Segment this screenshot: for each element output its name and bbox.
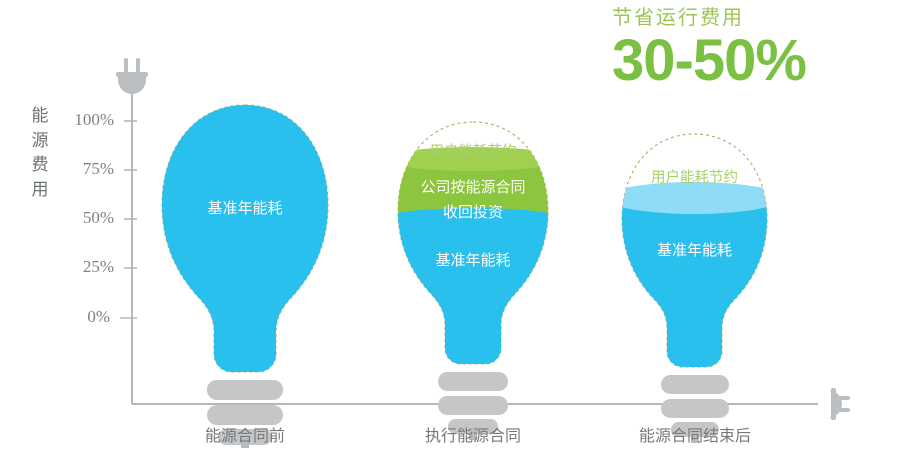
x-category-label-3: 能源合同结束后: [595, 422, 795, 446]
y-axis-title: 能源费用: [28, 104, 52, 203]
fill-surface-green: [388, 147, 558, 171]
y-tick-label-0: 0%: [48, 307, 110, 327]
y-tick-label-25: 25%: [52, 257, 114, 277]
y-tick-label-50: 50%: [52, 208, 114, 228]
bulb-before-contract[interactable]: 基准年能耗: [150, 100, 340, 400]
infographic-canvas: 节省运行费用 30-50% 能源费用 100% 75%: [0, 0, 900, 473]
base-bar-2: [438, 396, 508, 415]
base-bar-2: [661, 399, 729, 418]
plug-icon-horizontal: [828, 388, 850, 420]
headline-block: 节省运行费用 30-50%: [612, 6, 872, 90]
headline-value: 30-50%: [612, 33, 872, 90]
bulb-fill-baseline: [150, 100, 340, 400]
y-tick-label-100: 100%: [52, 110, 114, 130]
bulb-fill-baseline: [612, 198, 777, 400]
y-tick-label-75: 75%: [52, 159, 114, 179]
base-bar-1: [661, 375, 729, 394]
fill-surface-blue: [612, 182, 777, 214]
x-category-label-2: 执行能源合同: [373, 422, 573, 446]
fill-boundary-green-blue: [388, 208, 558, 230]
bulb-after-contract[interactable]: 用户能耗节约 基准年能耗: [612, 130, 777, 400]
plug-icon: [116, 58, 148, 94]
x-category-label-1: 能源合同前: [145, 422, 345, 446]
bulb-during-contract[interactable]: 用户能耗节约 公司按能源合同收回投资 基准年能耗: [388, 118, 558, 400]
base-bar-1: [438, 372, 508, 391]
base-bar-1: [207, 380, 283, 400]
